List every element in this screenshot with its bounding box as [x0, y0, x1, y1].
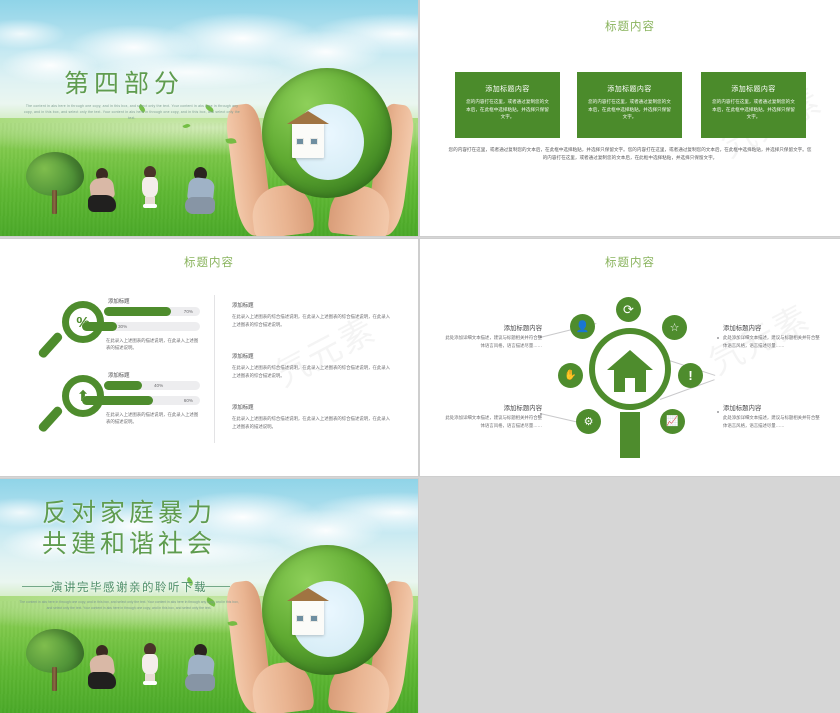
stat-caption: 在此录入上述图表的描述说明，在此录入上述图表的描述说明。 — [106, 337, 202, 352]
page-title: 标题内容 — [0, 254, 418, 270]
person-mother — [88, 645, 122, 691]
vertical-divider — [214, 295, 215, 443]
hand-icon[interactable]: ✋ — [558, 363, 583, 388]
slide-3-magnifier-stats[interactable]: 标题内容 氕元素 % 添加标题 70% 30% 在此录入上述图表的描述说明，在此… — [0, 239, 418, 476]
bar-chart-icon[interactable]: 📈 — [660, 409, 685, 434]
stat-bar: 40% — [104, 381, 200, 390]
callout-heading: 添加标题内容 — [442, 323, 542, 332]
person-child — [140, 166, 160, 208]
callout-body: 此处添加详细文本描述，建议与标题相关并符合整体语言风格，语言描述尽量…… — [442, 334, 542, 349]
callout-body: 此处添加详细文本描述，建议与标题相关并符合整体语言风格，语言描述尽量…… — [442, 414, 542, 429]
person-mother — [88, 168, 122, 214]
content-box-body: 您的内容打在这里，或者通过复制您的文本后，在此框中选择粘贴，并选择只保留文字。 — [464, 98, 551, 121]
gears-icon[interactable]: ⚙ — [576, 409, 601, 434]
content-box[interactable]: 添加标题内容 您的内容打在这里，或者通过复制您的文本后，在此框中选择粘贴，并选择… — [577, 72, 682, 138]
content-box-heading: 添加标题内容 — [586, 84, 673, 94]
content-box-body: 您的内容打在这里，或者通过复制您的文本后，在此框中选择粘贴，并选择只保留文字。 — [710, 98, 797, 121]
detail-heading: 添加标题 — [232, 301, 254, 309]
closing-title-line-1: 反对家庭暴力 — [14, 497, 244, 528]
connector-dot — [717, 411, 719, 413]
callout-heading: 添加标题内容 — [723, 403, 823, 412]
callout-body: 此处添加详细文本描述，建议与标题相关并符合整体语言风格，语言描述尽量…… — [723, 334, 823, 349]
content-box[interactable]: 添加标题内容 您的内容打在这里，或者通过复制您的文本后，在此框中选择粘贴，并选择… — [455, 72, 560, 138]
slide-2-three-boxes[interactable]: 标题内容 氕元素 添加标题内容 您的内容打在这里，或者通过复制您的文本后，在此框… — [420, 0, 840, 236]
section-subtitle: The content in aks here in through one c… — [22, 104, 242, 122]
house-illustration — [292, 599, 324, 635]
grass-ring — [262, 545, 392, 675]
alert-icon[interactable]: ! — [678, 363, 703, 388]
person-child — [140, 643, 160, 685]
closing-title-line-2: 共建和谐社会 — [14, 528, 244, 559]
slide-5-thank-you[interactable]: 反对家庭暴力 共建和谐社会 演讲完毕感谢亲的聆听下载 The content i… — [0, 479, 418, 713]
callout-body: 此处添加详细文本描述，建议与标题相关并符合整体语言风格，语言描述尽量…… — [723, 414, 823, 429]
person-father — [184, 644, 220, 692]
detail-body: 在此录入上述图表的综合描述说明，在此录入上述图表的综合描述说明，在此录入上述图表… — [232, 313, 394, 329]
stat-heading: 添加标题 — [108, 297, 130, 305]
content-box-heading: 添加标题内容 — [710, 84, 797, 94]
detail-heading: 添加标题 — [232, 352, 254, 360]
slide-thumbnail-grid: 第四部分 The content in aks here in through … — [0, 0, 840, 713]
stat-bar: 70% — [104, 307, 200, 316]
stat-bar-value: 70% — [184, 307, 193, 316]
stat-heading: 添加标题 — [108, 371, 130, 379]
slide-4-radial-icons[interactable]: 标题内容 氕元素 ⟳ 👤 ☆ ✋ ! ⚙ 📈 添加标题内容 此处添加详细文本描述… — [420, 239, 840, 476]
section-title: 第四部分 — [64, 64, 184, 100]
star-icon[interactable]: ☆ — [662, 315, 687, 340]
tree-illustration — [26, 629, 84, 691]
detail-body: 在此录入上述图表的综合描述说明，在此录入上述图表的综合描述说明，在此录入上述图表… — [232, 364, 394, 380]
add-user-icon[interactable]: 👤 — [570, 314, 595, 339]
closing-english-text: The content in aks here in through one c… — [18, 599, 240, 611]
page-title: 标题内容 — [420, 254, 840, 270]
callout-heading: 添加标题内容 — [442, 403, 542, 412]
slide-1-section-cover[interactable]: 第四部分 The content in aks here in through … — [0, 0, 418, 236]
grass-ring — [262, 68, 392, 198]
stat-bar-value: 60% — [184, 396, 193, 405]
content-box[interactable]: 添加标题内容 您的内容打在这里，或者通过复制您的文本后，在此框中选择粘贴，并选择… — [701, 72, 806, 138]
stat-bar-value: 40% — [154, 381, 163, 390]
page-title: 标题内容 — [420, 18, 840, 34]
body-paragraph: 您的内容打在这里，或者通过复制您的文本后，在此框中选择粘贴，并选择只保留文字。您… — [448, 146, 812, 162]
tree-illustration — [26, 152, 84, 214]
content-box-heading: 添加标题内容 — [464, 84, 551, 94]
callout-heading: 添加标题内容 — [723, 323, 823, 332]
stat-caption: 在此录入上述图表的描述说明，在此录入上述图表的描述说明。 — [106, 411, 202, 426]
house-illustration — [292, 122, 324, 158]
detail-body: 在此录入上述图表的综合描述说明，在此录入上述图表的综合描述说明，在此录入上述图表… — [232, 415, 394, 431]
cover-photo-background: 第四部分 The content in aks here in through … — [0, 0, 418, 236]
closing-photo-background: 反对家庭暴力 共建和谐社会 演讲完毕感谢亲的聆听下载 The content i… — [0, 479, 418, 713]
connector-dot — [717, 337, 719, 339]
detail-heading: 添加标题 — [232, 403, 254, 411]
content-box-body: 您的内容打在这里，或者通过复制您的文本后，在此框中选择粘贴，并选择只保留文字。 — [586, 98, 673, 121]
person-father — [184, 167, 220, 215]
stat-bar-value: 30% — [118, 322, 127, 331]
house-icon — [605, 348, 655, 394]
closing-subtitle: 演讲完毕感谢亲的聆听下载 — [14, 579, 244, 595]
stat-bar: 30% — [82, 322, 200, 331]
stat-bar: 60% — [82, 396, 200, 405]
refresh-icon[interactable]: ⟳ — [616, 297, 641, 322]
